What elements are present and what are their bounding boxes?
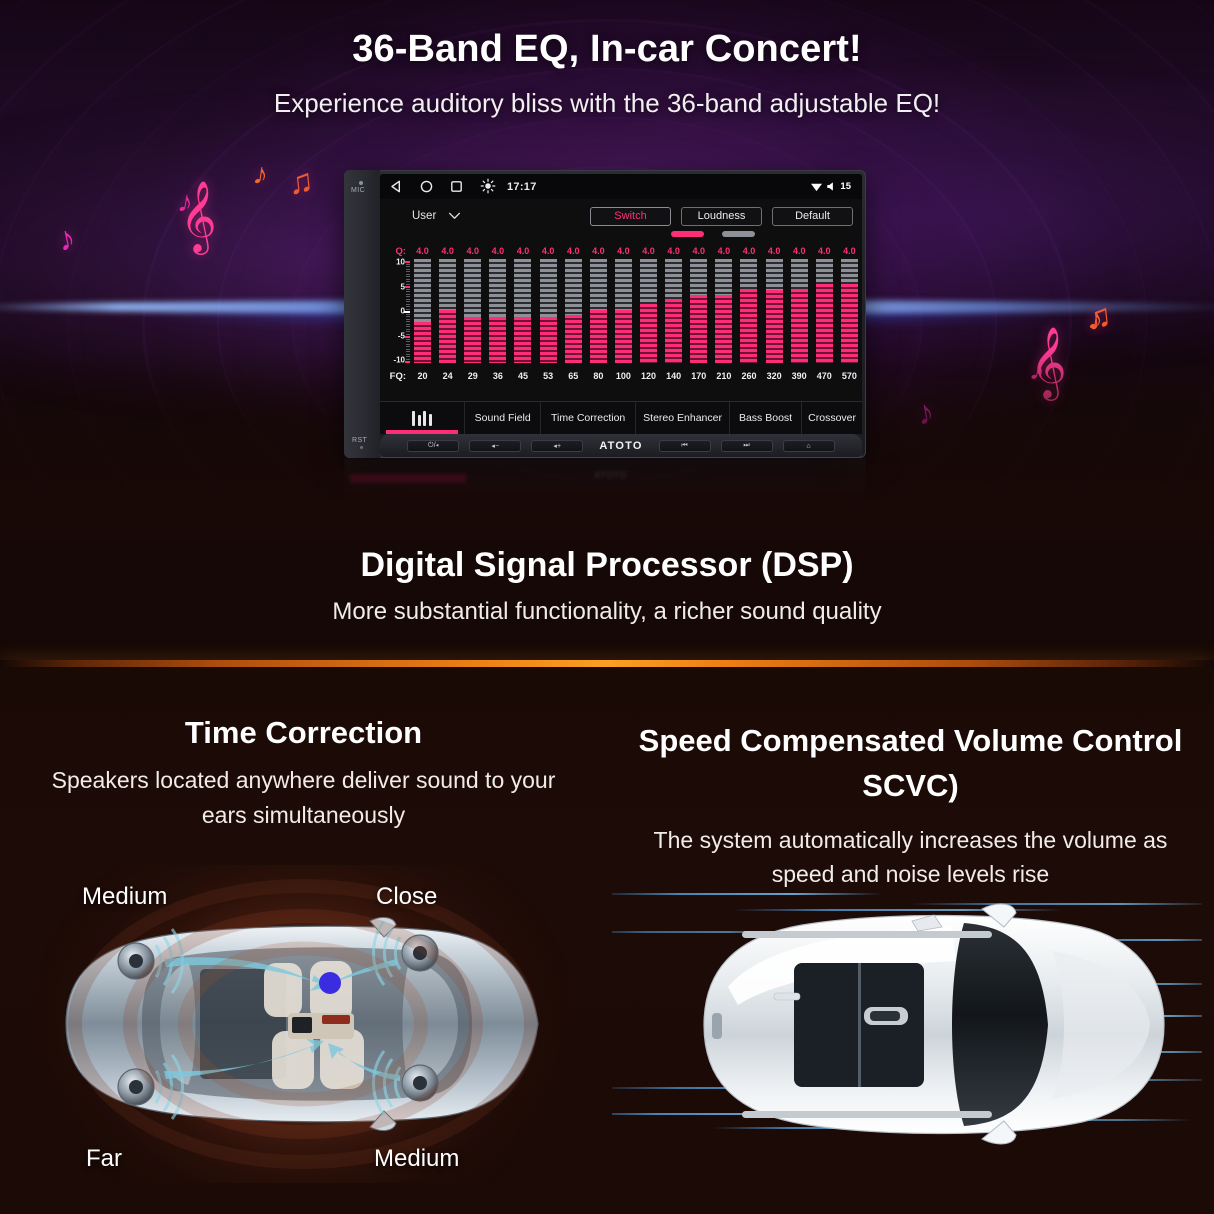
tab-label: Stereo Enhancer — [643, 412, 722, 424]
indicator-active — [671, 231, 704, 237]
recents-icon[interactable] — [448, 179, 464, 195]
q-value: 4.0 — [536, 246, 561, 256]
preset-button-default[interactable]: Default — [772, 207, 853, 226]
equalizer-bars-body: 1050-5-10 — [380, 259, 862, 363]
eq-band-fill — [414, 322, 431, 363]
q-value: 4.0 — [435, 246, 460, 256]
fq-values: 2024293645536580100120140170210260320390… — [410, 371, 862, 381]
label-far-bottom-left: Far — [86, 1145, 122, 1173]
white-car-top-view — [612, 865, 1202, 1183]
frequency-label: 36 — [485, 371, 510, 381]
back-icon[interactable] — [388, 179, 404, 195]
frequency-label: 20 — [410, 371, 435, 381]
eq-band-track[interactable] — [414, 259, 431, 363]
eq-band-track[interactable] — [816, 259, 833, 363]
eq-band-track[interactable] — [791, 259, 808, 363]
unit-screen: 17:17 15 User — [380, 174, 862, 434]
frequency-label: 100 — [611, 371, 636, 381]
frequency-label: 45 — [510, 371, 535, 381]
q-row-label: Q: — [380, 246, 410, 257]
eq-band-fill — [565, 315, 582, 363]
page-subheadline: Experience auditory bliss with the 36-ba… — [0, 88, 1214, 119]
reflection-brand: ATOTO — [594, 470, 627, 480]
q-value: 4.0 — [410, 246, 435, 256]
q-values: 4.04.04.04.04.04.04.04.04.04.04.04.04.04… — [410, 246, 862, 256]
home-key[interactable]: ⌂ — [783, 440, 835, 452]
time-correction-description: Speakers located anywhere deliver sound … — [0, 763, 607, 832]
eq-band-fill — [740, 289, 757, 363]
eq-band-fill — [540, 317, 557, 363]
eq-scale-axis: 1050-5-10 — [380, 259, 410, 363]
volume-icon — [826, 181, 837, 192]
frequency-label: 24 — [435, 371, 460, 381]
eq-band-slider[interactable] — [636, 259, 661, 363]
q-value: 4.0 — [711, 246, 736, 256]
frequency-label: 80 — [586, 371, 611, 381]
scale-label: -10 — [393, 356, 405, 365]
eq-band-track[interactable] — [690, 259, 707, 363]
eq-band-fill — [439, 310, 456, 363]
tab-time-correction[interactable]: Time Correction — [541, 402, 636, 434]
q-value: 4.0 — [561, 246, 586, 256]
eq-band-slider[interactable] — [586, 259, 611, 363]
music-note-icon: 𝄞 — [180, 186, 217, 248]
eq-band-track[interactable] — [590, 259, 607, 363]
frequency-label: 570 — [837, 371, 862, 381]
dsp-tab-bar: Sound FieldTime CorrectionStereo Enhance… — [380, 401, 862, 434]
status-clock: 17:17 — [507, 181, 537, 193]
scvc-diagram — [612, 865, 1202, 1183]
label-medium-top-left: Medium — [82, 883, 167, 911]
tab-label: Bass Boost — [739, 412, 792, 424]
indicator-inactive — [722, 231, 755, 237]
eq-band-track[interactable] — [439, 259, 456, 363]
q-value: 4.0 — [586, 246, 611, 256]
q-value: 4.0 — [812, 246, 837, 256]
eq-band-slider[interactable] — [510, 259, 535, 363]
scvc-title: Speed Compensated Volume Control SCVC) — [607, 719, 1214, 809]
eq-band-slider[interactable] — [561, 259, 586, 363]
mic-label: MIC — [351, 187, 365, 194]
android-status-bar: 17:17 15 — [380, 174, 862, 199]
previous-track-key[interactable]: ⏮ — [659, 440, 711, 452]
scale-ticks — [405, 259, 410, 363]
brand-label: ATOTO — [593, 440, 648, 452]
eq-band-fill — [640, 304, 657, 363]
eq-band-slider[interactable] — [812, 259, 837, 363]
frequency-row: FQ: 202429364553658010012014017021026032… — [380, 368, 862, 384]
equalizer-panel: Q: 4.04.04.04.04.04.04.04.04.04.04.04.04… — [380, 244, 862, 384]
eq-band-track[interactable] — [489, 259, 506, 363]
eq-band-slider[interactable] — [485, 259, 510, 363]
reflection-accent — [350, 474, 466, 483]
dsp-title: Digital Signal Processor (DSP) — [0, 546, 1214, 585]
eq-band-fill — [715, 295, 732, 363]
reset-pinhole-icon[interactable] — [360, 446, 363, 449]
q-value: 4.0 — [460, 246, 485, 256]
frequency-label: 320 — [762, 371, 787, 381]
frequency-label: 210 — [711, 371, 736, 381]
eq-band-slider[interactable] — [837, 259, 862, 363]
time-correction-diagram: Medium Close Far Medium — [38, 865, 568, 1183]
eq-band-fill — [665, 299, 682, 363]
eq-band-slider[interactable] — [736, 259, 761, 363]
tab-stereo-enhancer[interactable]: Stereo Enhancer — [636, 402, 730, 434]
frequency-label: 390 — [787, 371, 812, 381]
eq-band-fill — [841, 284, 858, 363]
eq-band-track[interactable] — [715, 259, 732, 363]
power-mute-key[interactable]: ⏻/◂ — [407, 440, 459, 452]
eq-band-track[interactable] — [665, 259, 682, 363]
eq-band-slider[interactable] — [460, 259, 485, 363]
fq-row-label: FQ: — [380, 371, 410, 382]
promo-page: ♪♪𝄞♪♫♪♪𝄞♪♫ 36-Band EQ, In-car Concert! E… — [0, 0, 1214, 1214]
feature-time-correction: Time Correction Speakers located anywher… — [0, 697, 607, 832]
q-value: 4.0 — [510, 246, 535, 256]
eq-band-track[interactable] — [540, 259, 557, 363]
q-value: 4.0 — [485, 246, 510, 256]
eq-band-slider[interactable] — [410, 259, 435, 363]
next-track-key[interactable]: ⏭ — [721, 440, 773, 452]
q-value-row: Q: 4.04.04.04.04.04.04.04.04.04.04.04.04… — [380, 244, 862, 258]
preset-selector[interactable]: User — [412, 210, 461, 222]
eq-band-fill — [514, 317, 531, 363]
label-medium-bottom-right: Medium — [374, 1145, 459, 1173]
q-value: 4.0 — [762, 246, 787, 256]
eq-band-fill — [816, 284, 833, 363]
eq-band-track[interactable] — [740, 259, 757, 363]
label-close-top-right: Close — [376, 883, 437, 911]
eq-band-track[interactable] — [565, 259, 582, 363]
hardware-key-row: ⏻/◂◂−◂+ATOTO⏮⏭⌂ — [380, 434, 862, 458]
q-value: 4.0 — [611, 246, 636, 256]
brightness-icon[interactable] — [480, 178, 497, 195]
dsp-subtitle: More substantial functionality, a richer… — [0, 598, 1214, 626]
tab-label: Sound Field — [475, 412, 531, 424]
volume-up-key[interactable]: ◂+ — [531, 440, 583, 452]
frequency-label: 140 — [661, 371, 686, 381]
features-section: Time Correction Speakers located anywher… — [0, 667, 1214, 1214]
eq-band-slider[interactable] — [686, 259, 711, 363]
music-note-icon: ♫ — [1084, 299, 1113, 335]
car-stereo-head-unit: MIC RST — [344, 170, 866, 458]
eq-band-slider[interactable] — [762, 259, 787, 363]
tab-bass-boost[interactable]: Bass Boost — [730, 402, 802, 434]
q-value: 4.0 — [686, 246, 711, 256]
section-divider — [0, 660, 1214, 667]
preset-button-group: SwitchLoudnessDefault — [590, 207, 862, 226]
home-icon[interactable] — [418, 179, 434, 195]
eq-band-track[interactable] — [841, 259, 858, 363]
eq-band-fill — [690, 295, 707, 363]
tab-label: Time Correction — [551, 412, 625, 424]
reset-label: RST — [352, 437, 367, 444]
frequency-label: 53 — [536, 371, 561, 381]
eq-band-fill — [590, 310, 607, 363]
q-value: 4.0 — [636, 246, 661, 256]
eq-band-track[interactable] — [766, 259, 783, 363]
equalizer-sliders-icon — [412, 411, 432, 426]
eq-band-track[interactable] — [514, 259, 531, 363]
eq-band-slider[interactable] — [435, 259, 460, 363]
eq-band-track[interactable] — [464, 259, 481, 363]
eq-preset-row: User SwitchLoudnessDefault — [380, 202, 862, 230]
status-right-group: 15 — [810, 181, 854, 192]
mic-hole-icon — [359, 181, 363, 185]
volume-level: 15 — [840, 181, 851, 192]
eq-band-slider[interactable] — [661, 259, 686, 363]
eq-band-fill — [615, 310, 632, 363]
chevron-down-icon[interactable] — [448, 212, 461, 220]
frequency-label: 120 — [636, 371, 661, 381]
wifi-icon — [810, 181, 823, 192]
eq-band-slider[interactable] — [536, 259, 561, 363]
music-note-icon: ♫ — [286, 164, 315, 200]
page-headline: 36-Band EQ, In-car Concert! — [0, 28, 1214, 71]
preset-name: User — [412, 210, 436, 222]
preset-indicator-row — [380, 231, 862, 241]
feature-scvc: Speed Compensated Volume Control SCVC) T… — [607, 697, 1214, 892]
q-value: 4.0 — [837, 246, 862, 256]
scale-label: 10 — [396, 258, 405, 267]
eq-band-sliders — [410, 259, 862, 363]
eq-band-fill — [791, 289, 808, 363]
tab-label: Crossover — [808, 412, 856, 424]
q-value: 4.0 — [661, 246, 686, 256]
q-value: 4.0 — [787, 246, 812, 256]
scale-label: -5 — [398, 331, 405, 340]
eq-band-slider[interactable] — [787, 259, 812, 363]
tab-crossover[interactable]: Crossover — [802, 402, 862, 434]
eq-band-fill — [464, 317, 481, 363]
eq-band-slider[interactable] — [711, 259, 736, 363]
frequency-label: 65 — [561, 371, 586, 381]
frequency-label: 29 — [460, 371, 485, 381]
frequency-label: 170 — [686, 371, 711, 381]
q-value: 4.0 — [736, 246, 761, 256]
unit-left-bezel: MIC RST — [344, 170, 380, 458]
volume-down-key[interactable]: ◂− — [469, 440, 521, 452]
eq-band-track[interactable] — [640, 259, 657, 363]
time-correction-title: Time Correction — [0, 715, 607, 751]
eq-band-slider[interactable] — [611, 259, 636, 363]
eq-band-fill — [766, 290, 783, 363]
preset-button-switch[interactable]: Switch — [590, 207, 671, 226]
preset-button-loudness[interactable]: Loudness — [681, 207, 762, 226]
eq-band-fill — [489, 317, 506, 363]
tab-sound-field[interactable]: Sound Field — [465, 402, 541, 434]
frequency-label: 470 — [812, 371, 837, 381]
eq-band-track[interactable] — [615, 259, 632, 363]
tab-equalizer[interactable] — [380, 402, 465, 434]
unit-reflection: ATOTO — [344, 458, 866, 536]
frequency-label: 260 — [736, 371, 761, 381]
